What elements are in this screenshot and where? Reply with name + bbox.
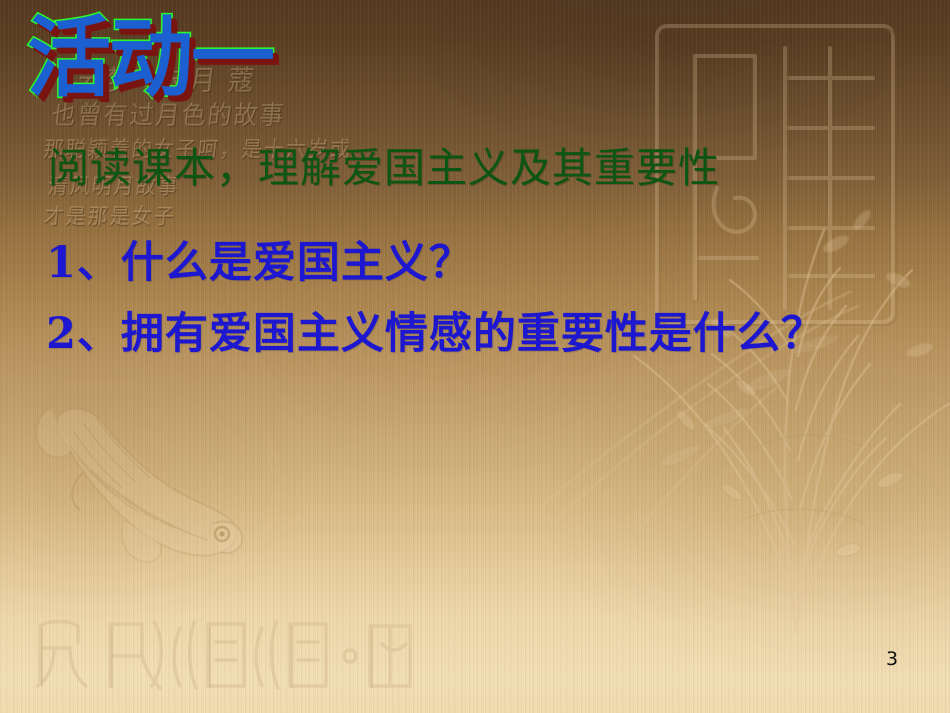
page-number: 3 bbox=[886, 648, 898, 670]
presentation-slide: 云梦一枝月 蔻 也曾有过月色的故事 那聪颖着的女子呵，是十六岁或 清风明月故事 … bbox=[0, 0, 950, 713]
question-item-2: 2、拥有爱国主义情感的重要性是什么？ bbox=[46, 313, 825, 356]
slide-subtitle: 阅读课本，理解爱国主义及其重要性 bbox=[48, 148, 720, 189]
ghost-calligraphy-line: 才是那是女子 bbox=[42, 199, 177, 230]
slide-title: 活动一 bbox=[27, 14, 273, 101]
bamboo-watermark-icon bbox=[540, 230, 870, 530]
orchid-plant-watermark-icon bbox=[600, 120, 950, 640]
koi-fish-watermark-icon bbox=[26, 398, 262, 588]
question-item-1: 1、什么是爱国主义？ bbox=[46, 242, 473, 285]
seal-script-footer-icon bbox=[18, 608, 448, 703]
